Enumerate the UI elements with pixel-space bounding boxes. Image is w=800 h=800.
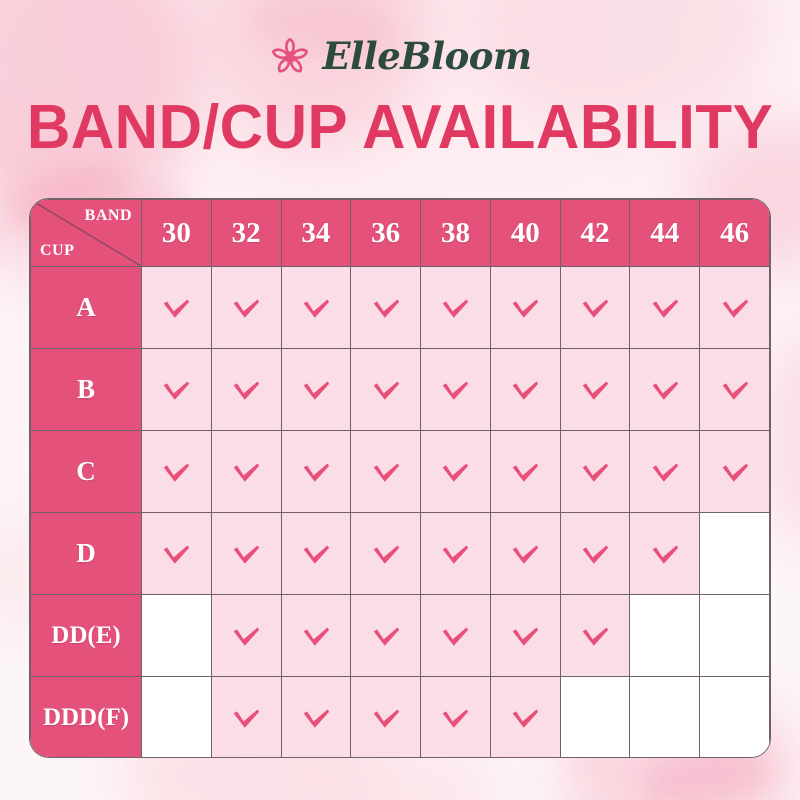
check-icon [299,619,333,653]
band-cup-grid: BAND CUP 303234363840424446 ABCDDD(E)DDD… [30,199,770,758]
check-icon [578,373,612,407]
availability-cell-D-34[interactable] [281,513,351,595]
band-header-40[interactable]: 40 [490,200,560,267]
availability-cell-A-42[interactable] [560,267,630,349]
table-row: D [31,513,770,595]
band-header-42[interactable]: 42 [560,200,630,267]
availability-cell-DDD(F)-30[interactable] [142,677,212,759]
corner-header-cell: BAND CUP [31,200,142,267]
check-icon [508,537,542,571]
table-row: C [31,431,770,513]
availability-cell-B-46[interactable] [700,349,770,431]
availability-cell-C-44[interactable] [630,431,700,513]
availability-cell-C-30[interactable] [142,431,212,513]
availability-cell-D-32[interactable] [211,513,281,595]
availability-cell-A-44[interactable] [630,267,700,349]
check-icon [369,373,403,407]
check-icon [578,537,612,571]
availability-cell-DDD(F)-34[interactable] [281,677,351,759]
check-icon [508,619,542,653]
availability-cell-DDD(F)-38[interactable] [421,677,491,759]
corner-cup-label: CUP [40,242,74,260]
check-icon [648,537,682,571]
check-icon [508,701,542,735]
check-icon [299,291,333,325]
band-header-36[interactable]: 36 [351,200,421,267]
availability-cell-B-34[interactable] [281,349,351,431]
availability-cell-C-42[interactable] [560,431,630,513]
band-header-46[interactable]: 46 [700,200,770,267]
availability-cell-DD(E)-46[interactable] [700,595,770,677]
availability-cell-DD(E)-42[interactable] [560,595,630,677]
availability-cell-C-32[interactable] [211,431,281,513]
availability-cell-DD(E)-36[interactable] [351,595,421,677]
availability-cell-DD(E)-44[interactable] [630,595,700,677]
check-icon [369,619,403,653]
availability-cell-DDD(F)-44[interactable] [630,677,700,759]
availability-cell-DD(E)-38[interactable] [421,595,491,677]
availability-cell-C-46[interactable] [700,431,770,513]
availability-cell-A-38[interactable] [421,267,491,349]
check-icon [438,455,472,489]
check-icon [229,701,263,735]
check-icon [648,455,682,489]
availability-cell-DDD(F)-36[interactable] [351,677,421,759]
brand-name: ElleBloom [322,38,531,75]
availability-cell-DDD(F)-46[interactable] [700,677,770,759]
band-header-44[interactable]: 44 [630,200,700,267]
check-icon [369,537,403,571]
brand-logo: ElleBloom [0,34,800,78]
availability-cell-D-38[interactable] [421,513,491,595]
check-icon [299,701,333,735]
table-head: BAND CUP 303234363840424446 [31,200,770,267]
table-body: ABCDDD(E)DDD(F) [31,267,770,759]
corner-band-label: BAND [85,207,132,225]
check-icon [299,537,333,571]
availability-cell-C-38[interactable] [421,431,491,513]
availability-cell-DDD(F)-40[interactable] [490,677,560,759]
availability-cell-D-44[interactable] [630,513,700,595]
check-icon [369,701,403,735]
check-icon [369,455,403,489]
availability-cell-D-36[interactable] [351,513,421,595]
table-row: B [31,349,770,431]
availability-cell-B-42[interactable] [560,349,630,431]
availability-cell-B-38[interactable] [421,349,491,431]
check-icon [159,291,193,325]
band-header-30[interactable]: 30 [142,200,212,267]
check-icon [229,373,263,407]
availability-cell-DDD(F)-42[interactable] [560,677,630,759]
availability-cell-B-44[interactable] [630,349,700,431]
check-icon [159,455,193,489]
check-icon [229,455,263,489]
availability-cell-DDD(F)-32[interactable] [211,677,281,759]
availability-cell-C-34[interactable] [281,431,351,513]
check-icon [229,291,263,325]
check-icon [299,373,333,407]
availability-cell-A-40[interactable] [490,267,560,349]
check-icon [508,291,542,325]
check-icon [578,291,612,325]
table-row: DD(E) [31,595,770,677]
availability-cell-DD(E)-34[interactable] [281,595,351,677]
check-icon [159,537,193,571]
availability-cell-B-40[interactable] [490,349,560,431]
check-icon [229,619,263,653]
check-icon [438,701,472,735]
availability-cell-DD(E)-30[interactable] [142,595,212,677]
check-icon [229,537,263,571]
check-icon [718,373,752,407]
availability-cell-B-30[interactable] [142,349,212,431]
cup-header-DDD(F)[interactable]: DDD(F) [31,677,142,759]
check-icon [648,291,682,325]
check-icon [508,455,542,489]
availability-cell-C-36[interactable] [351,431,421,513]
availability-cell-D-46[interactable] [700,513,770,595]
availability-cell-D-40[interactable] [490,513,560,595]
check-icon [508,373,542,407]
check-icon [648,373,682,407]
cup-header-C[interactable]: C [31,431,142,513]
table-row: DDD(F) [31,677,770,759]
check-icon [578,455,612,489]
header-row: BAND CUP 303234363840424446 [31,200,770,267]
availability-cell-A-34[interactable] [281,267,351,349]
cup-header-B[interactable]: B [31,349,142,431]
check-icon [438,619,472,653]
check-icon [438,537,472,571]
availability-cell-D-30[interactable] [142,513,212,595]
availability-cell-C-40[interactable] [490,431,560,513]
flower-icon [268,34,312,78]
band-header-34[interactable]: 34 [281,200,351,267]
cup-header-A[interactable]: A [31,267,142,349]
cup-header-DD(E)[interactable]: DD(E) [31,595,142,677]
availability-cell-A-46[interactable] [700,267,770,349]
availability-cell-DD(E)-40[interactable] [490,595,560,677]
availability-cell-D-42[interactable] [560,513,630,595]
check-icon [299,455,333,489]
check-icon [438,373,472,407]
table-row: A [31,267,770,349]
availability-cell-A-36[interactable] [351,267,421,349]
check-icon [438,291,472,325]
availability-cell-A-32[interactable] [211,267,281,349]
check-icon [718,455,752,489]
check-icon [369,291,403,325]
band-header-32[interactable]: 32 [211,200,281,267]
band-header-38[interactable]: 38 [421,200,491,267]
check-icon [718,291,752,325]
page-title: BAND/CUP AVAILABILITY [12,95,788,160]
cup-header-D[interactable]: D [31,513,142,595]
check-icon [578,619,612,653]
availability-cell-DD(E)-32[interactable] [211,595,281,677]
availability-table: BAND CUP 303234363840424446 ABCDDD(E)DDD… [29,198,771,758]
availability-cell-B-32[interactable] [211,349,281,431]
availability-cell-B-36[interactable] [351,349,421,431]
check-icon [159,373,193,407]
availability-cell-A-30[interactable] [142,267,212,349]
